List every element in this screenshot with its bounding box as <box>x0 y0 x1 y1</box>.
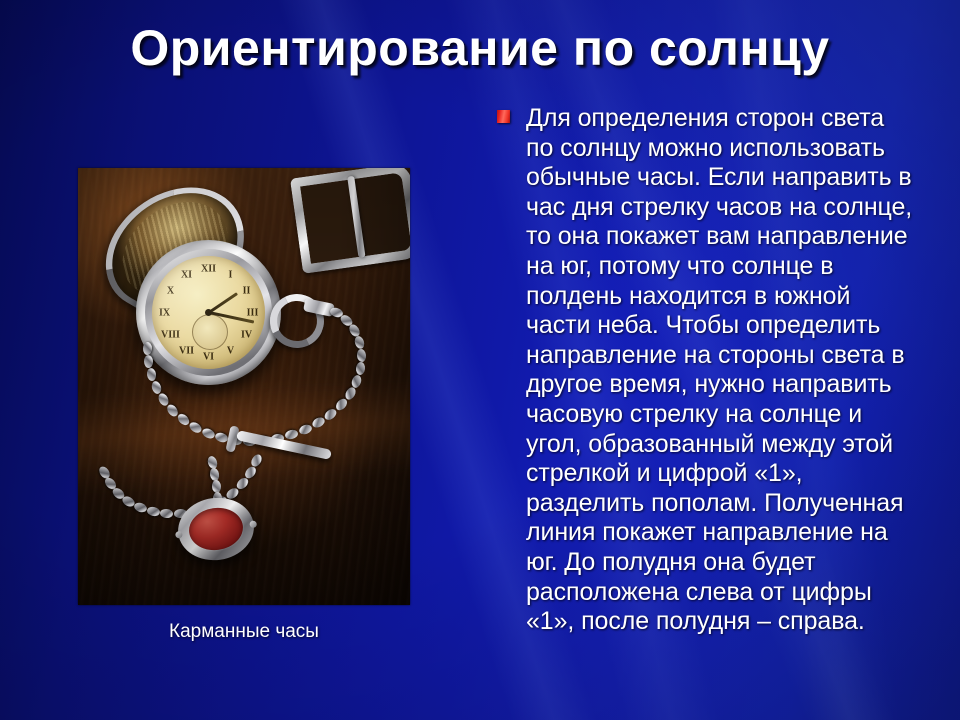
red-square-bullet-icon <box>497 110 510 123</box>
pocket-watch-photo: XII I II III IV V VI VII VIII IX X XI <box>78 168 410 605</box>
photo-caption: Карманные часы <box>78 621 410 644</box>
slide-title: Ориентирование по солнцу <box>0 22 960 75</box>
photo-wood-desk-background: XII I II III IV V VI VII VIII IX X XI <box>78 168 410 605</box>
carnelian-stone <box>186 504 245 553</box>
dial-glass-reflection <box>152 256 265 369</box>
presentation-slide: Ориентирование по солнцу XII I II III <box>0 0 960 720</box>
belt-buckle <box>290 168 410 274</box>
watch-case: XII I II III IV V VI VII VIII IX X XI <box>136 240 281 385</box>
body-paragraph: Для определения сторон света по солнцу м… <box>526 104 917 637</box>
watch-dial: XII I II III IV V VI VII VIII IX X XI <box>152 256 265 369</box>
content-bullet-block: Для определения сторон света по солнцу м… <box>497 104 917 637</box>
fob-pivot-left <box>175 530 183 538</box>
fob-pivot-right <box>249 520 257 528</box>
